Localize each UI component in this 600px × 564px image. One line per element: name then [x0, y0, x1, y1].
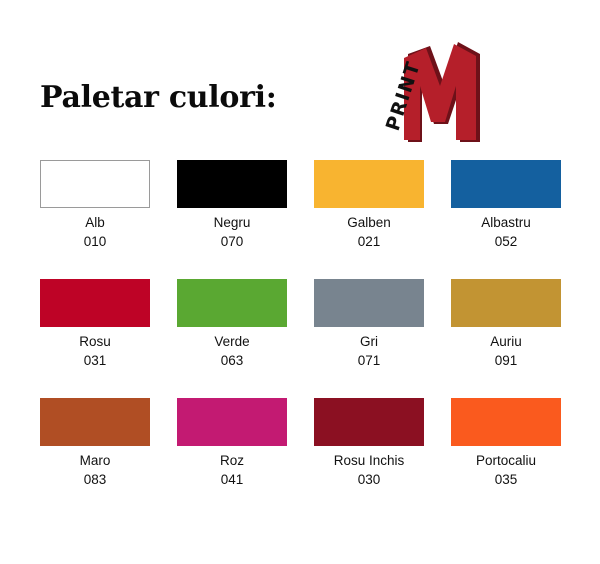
swatch-item[interactable]: Verde 063	[177, 279, 287, 370]
swatch-code: 021	[314, 232, 424, 251]
swatch-name: Roz	[177, 451, 287, 470]
swatch-grid: Alb 010 Negru 070 Galben 021 Albastru 05…	[40, 160, 560, 517]
swatch-code: 071	[314, 351, 424, 370]
swatch-name: Gri	[314, 332, 424, 351]
color-palette-page: Paletar culori: PRINT Alb 010	[0, 0, 600, 564]
swatch-chip[interactable]	[451, 279, 561, 327]
swatch-name: Verde	[177, 332, 287, 351]
swatch-code: 083	[40, 470, 150, 489]
swatch-code: 070	[177, 232, 287, 251]
swatch-name: Rosu Inchis	[314, 451, 424, 470]
swatch-code: 010	[40, 232, 150, 251]
swatch-code: 035	[451, 470, 561, 489]
swatch-chip[interactable]	[451, 160, 561, 208]
swatch-row: Rosu 031 Verde 063 Gri 071 Auriu 091	[40, 279, 560, 370]
swatch-name: Portocaliu	[451, 451, 561, 470]
swatch-item[interactable]: Negru 070	[177, 160, 287, 251]
swatch-item[interactable]: Rosu 031	[40, 279, 150, 370]
swatch-chip[interactable]	[177, 398, 287, 446]
swatch-chip[interactable]	[451, 398, 561, 446]
swatch-row: Alb 010 Negru 070 Galben 021 Albastru 05…	[40, 160, 560, 251]
swatch-item[interactable]: Alb 010	[40, 160, 150, 251]
swatch-item[interactable]: Maro 083	[40, 398, 150, 489]
swatch-code: 091	[451, 351, 561, 370]
swatch-code: 041	[177, 470, 287, 489]
swatch-chip[interactable]	[40, 398, 150, 446]
swatch-chip[interactable]	[314, 398, 424, 446]
swatch-name: Negru	[177, 213, 287, 232]
swatch-code: 063	[177, 351, 287, 370]
swatch-chip[interactable]	[40, 279, 150, 327]
swatch-item[interactable]: Auriu 091	[451, 279, 561, 370]
swatch-item[interactable]: Albastru 052	[451, 160, 561, 251]
swatch-name: Albastru	[451, 213, 561, 232]
swatch-code: 052	[451, 232, 561, 251]
swatch-code: 030	[314, 470, 424, 489]
swatch-row: Maro 083 Roz 041 Rosu Inchis 030 Portoca…	[40, 398, 560, 489]
swatch-chip[interactable]	[314, 160, 424, 208]
swatch-item[interactable]: Galben 021	[314, 160, 424, 251]
page-title: Paletar culori:	[40, 80, 276, 115]
print-m-logo: PRINT	[368, 32, 488, 144]
swatch-item[interactable]: Portocaliu 035	[451, 398, 561, 489]
swatch-name: Auriu	[451, 332, 561, 351]
swatch-name: Maro	[40, 451, 150, 470]
swatch-name: Galben	[314, 213, 424, 232]
swatch-item[interactable]: Roz 041	[177, 398, 287, 489]
swatch-code: 031	[40, 351, 150, 370]
swatch-item[interactable]: Gri 071	[314, 279, 424, 370]
page-header: Paletar culori: PRINT	[0, 0, 600, 150]
swatch-chip[interactable]	[177, 279, 287, 327]
swatch-chip[interactable]	[40, 160, 150, 208]
swatch-name: Alb	[40, 213, 150, 232]
swatch-name: Rosu	[40, 332, 150, 351]
swatch-chip[interactable]	[314, 279, 424, 327]
swatch-chip[interactable]	[177, 160, 287, 208]
swatch-item[interactable]: Rosu Inchis 030	[314, 398, 424, 489]
